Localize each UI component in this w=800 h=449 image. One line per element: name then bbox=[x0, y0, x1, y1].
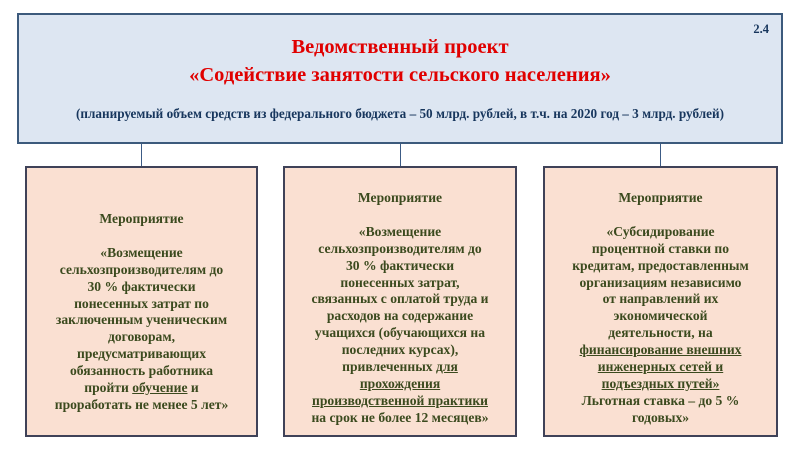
measure-box-1: Мероприятие «Возмещение сельхозпроизводи… bbox=[25, 166, 258, 437]
measure-box-2-body-before: «Возмещение сельхозпроизводителям до 30 … bbox=[311, 224, 488, 374]
page-title: Ведомственный проект «Содействие занятос… bbox=[29, 23, 771, 90]
connector-to-box-1 bbox=[141, 144, 142, 167]
measure-box-1-text: Мероприятие «Возмещение сельхозпроизводи… bbox=[33, 194, 250, 414]
page-title-line-1: Ведомственный проект bbox=[291, 36, 508, 58]
slide-number: 2.4 bbox=[753, 22, 769, 37]
measure-box-1-body-underlined: обучение bbox=[132, 380, 187, 395]
header-panel: 2.4 Ведомственный проект «Содействие зан… bbox=[17, 13, 783, 144]
measure-box-3-body-before: «Субсидирование процентной ставки по кре… bbox=[572, 224, 749, 341]
measure-box-1-body-before: «Возмещение сельхозпроизводителям до 30 … bbox=[56, 245, 227, 395]
budget-subtitle: (планируемый объем средств из федерально… bbox=[29, 90, 771, 122]
measure-box-3-text: Мероприятие «Субсидирование процентной с… bbox=[551, 173, 770, 427]
measure-box-2-text: Мероприятие «Возмещение сельхозпроизводи… bbox=[291, 173, 509, 427]
measure-box-3: Мероприятие «Субсидирование процентной с… bbox=[543, 166, 778, 437]
measure-box-3-body-after: Льготная ставка – до 5 % годовых» bbox=[582, 393, 740, 425]
measure-box-3-heading: Мероприятие bbox=[618, 190, 702, 205]
connector-to-box-2 bbox=[400, 144, 401, 167]
connector-to-box-3 bbox=[660, 144, 661, 167]
page-title-line-2: «Содействие занятости сельского населени… bbox=[69, 61, 731, 89]
measure-box-2: Мероприятие «Возмещение сельхозпроизводи… bbox=[283, 166, 517, 437]
measure-box-2-heading: Мероприятие bbox=[358, 190, 442, 205]
measure-box-3-body-underlined: финансирование внешних инженерных сетей … bbox=[580, 342, 742, 391]
measure-box-1-heading: Мероприятие bbox=[99, 211, 183, 226]
slide-canvas: 2.4 Ведомственный проект «Содействие зан… bbox=[0, 0, 800, 449]
measure-box-2-body-after: на срок не более 12 месяцев» bbox=[311, 410, 488, 425]
